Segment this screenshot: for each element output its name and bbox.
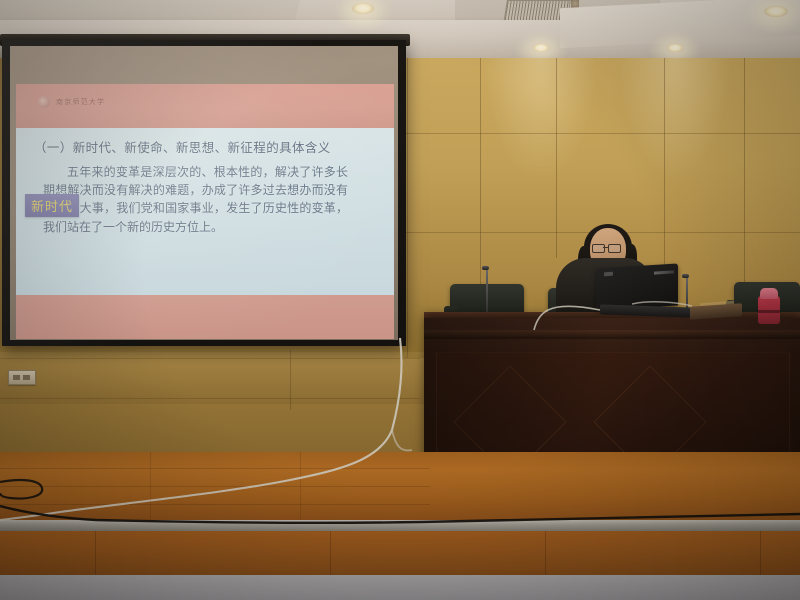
floor-plank-line [150,452,151,520]
thermos-cap [760,288,778,299]
stage-nosing-strip [0,520,800,531]
downlight-icon [667,44,683,52]
laptop-logo-icon [604,272,613,277]
projected-slide: 南京师范大学 （一）新时代、新使命、新思想、新征程的具体含义 五年来的变革是深层… [16,84,394,339]
podium-lip [424,330,800,339]
lower-floor [0,575,800,600]
outlet-slot [23,375,30,380]
glasses-icon [608,244,621,253]
downlight-icon [764,6,788,17]
riser-seam [330,531,331,575]
riser-seam [760,531,761,575]
floor-plank-line [300,452,301,520]
slide-paragraph: 五年来的变革是深层次的、根本性的，解决了许多长期想解决而没有解决的难题，办成了许… [43,163,348,236]
glasses-icon [592,244,605,253]
riser-seam [95,531,96,575]
floor-plank-line [0,486,430,487]
wall-seam [400,133,800,134]
slide-title: （一）新时代、新使命、新思想、新征程的具体含义 [34,137,331,156]
projection-screen: 南京师范大学 （一）新时代、新使命、新思想、新征程的具体含义 五年来的变革是深层… [2,40,406,346]
downlight-icon [352,3,374,14]
slide-badge: 新时代 [25,194,79,217]
microphone-stem [486,268,488,316]
slide-footer [16,295,394,339]
floor-plank-line [0,504,430,505]
wall-seam [407,58,408,358]
microphone-head-icon [482,266,489,270]
wall-outlet [8,370,36,385]
slide-header: 南京师范大学 [16,84,394,128]
stage-floor [0,452,800,524]
logo-text: 南京师范大学 [56,97,105,107]
downlight-icon [533,44,549,52]
university-logo: 南京师范大学 [38,96,105,108]
slide-body: （一）新时代、新使命、新思想、新征程的具体含义 五年来的变革是深层次的、根本性的… [16,128,394,295]
floor-plank-line [0,468,430,469]
logo-mark-icon [38,96,50,108]
riser-seam [545,531,546,575]
microphone-head-icon [682,274,689,278]
wall-seam [556,58,557,258]
thermos-ring [758,310,780,313]
stage-riser [0,531,800,575]
lecture-hall-photo: 南京师范大学 （一）新时代、新使命、新思想、新征程的具体含义 五年来的变革是深层… [0,0,800,600]
outlet-slot [13,375,20,380]
glasses-bridge [603,247,608,248]
